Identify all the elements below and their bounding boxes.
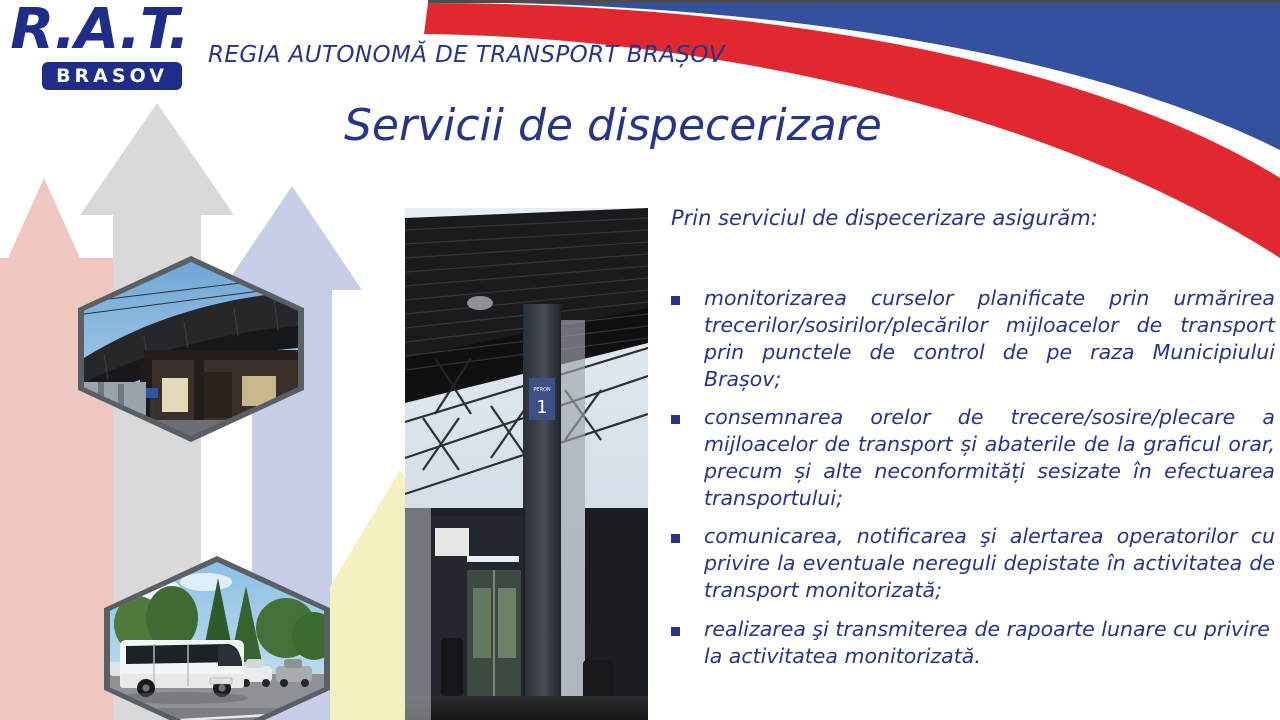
list-item-label: consemnarea orelor de trecere/sosire/ple… xyxy=(704,404,1275,512)
list-item-label: realizarea şi transmiterea de rapoarte l… xyxy=(704,616,1275,670)
bullet-square-icon xyxy=(671,415,680,424)
list-item: realizarea şi transmiterea de rapoarte l… xyxy=(671,616,1275,670)
logo-city-badge: BRASOV xyxy=(42,62,182,90)
list-item: monitorizarea curselor planificate prin … xyxy=(671,285,1275,393)
photo-bus-station-platform xyxy=(84,262,298,436)
bullet-square-icon xyxy=(671,627,680,636)
rat-brasov-logo: R.A.T. BRASOV xyxy=(8,4,198,96)
presentation-slide: PERON 1 xyxy=(0,0,1280,720)
photo-bus-terminal-canopy: PERON 1 xyxy=(405,208,648,720)
page-title: Servicii de dispecerizare xyxy=(344,100,882,151)
list-item: comunicarea, notificarea şi alertarea op… xyxy=(671,523,1275,604)
bullet-square-icon xyxy=(671,534,680,543)
svg-text:1: 1 xyxy=(536,397,547,418)
top-rule xyxy=(428,0,1280,3)
list-item-label: monitorizarea curselor planificate prin … xyxy=(704,285,1275,393)
organization-title: REGIA AUTONOMĂ DE TRANSPORT BRAȘOV xyxy=(208,42,725,68)
logo-initials: R.A.T. xyxy=(10,2,189,58)
list-item: consemnarea orelor de trecere/sosire/ple… xyxy=(671,404,1275,512)
photo-white-bus xyxy=(110,562,324,720)
svg-text:PERON: PERON xyxy=(533,387,551,393)
list-item-label: comunicarea, notificarea şi alertarea op… xyxy=(704,523,1275,604)
intro-text: Prin serviciul de dispecerizare asigurăm… xyxy=(671,206,1098,230)
bullet-square-icon xyxy=(671,296,680,305)
bullet-list: monitorizarea curselor planificate prin … xyxy=(671,285,1275,681)
